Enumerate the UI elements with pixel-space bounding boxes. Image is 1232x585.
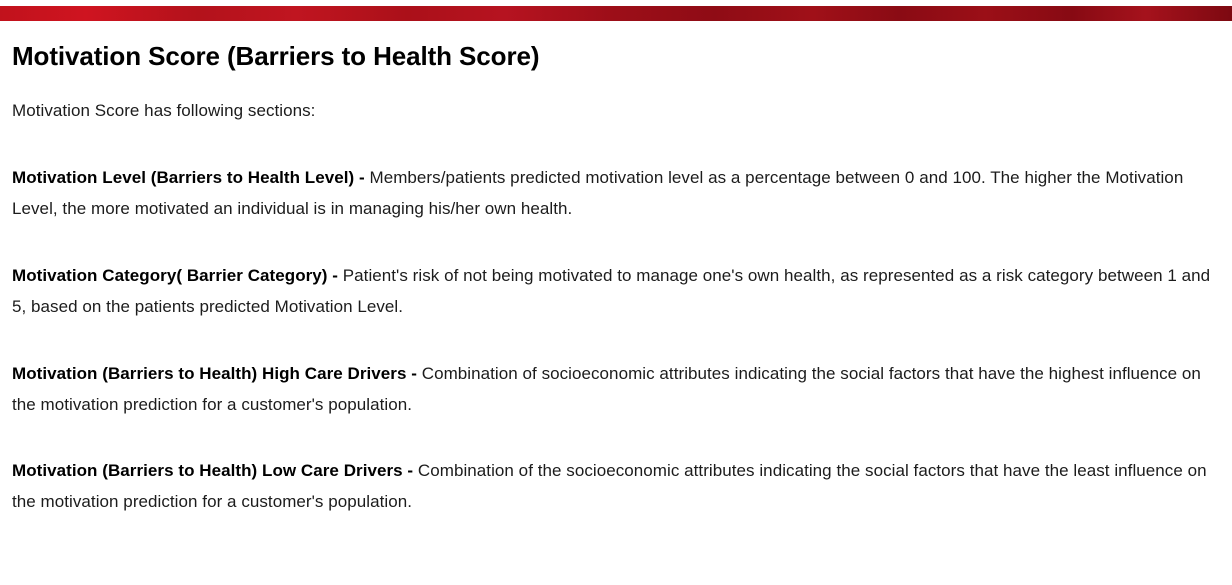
section-motivation-level-lead: Motivation Level (Barriers to Health Lev… (12, 168, 370, 187)
section-high-care-drivers-lead: Motivation (Barriers to Health) High Car… (12, 364, 422, 383)
page-root: Motivation Score (Barriers to Health Sco… (0, 0, 1232, 585)
section-low-care-drivers: Motivation (Barriers to Health) Low Care… (12, 420, 1220, 517)
section-motivation-category-lead: Motivation Category( Barrier Category) - (12, 266, 343, 285)
section-motivation-category: Motivation Category( Barrier Category) -… (12, 224, 1220, 322)
section-motivation-level: Motivation Level (Barriers to Health Lev… (12, 126, 1220, 224)
intro-paragraph: Motivation Score has following sections: (12, 72, 1220, 126)
document-content: Motivation Score (Barriers to Health Sco… (0, 21, 1232, 517)
section-high-care-drivers: Motivation (Barriers to Health) High Car… (12, 322, 1220, 420)
section-low-care-drivers-lead: Motivation (Barriers to Health) Low Care… (12, 461, 418, 480)
top-accent-banner (0, 6, 1232, 21)
page-title: Motivation Score (Barriers to Health Sco… (12, 21, 1220, 72)
